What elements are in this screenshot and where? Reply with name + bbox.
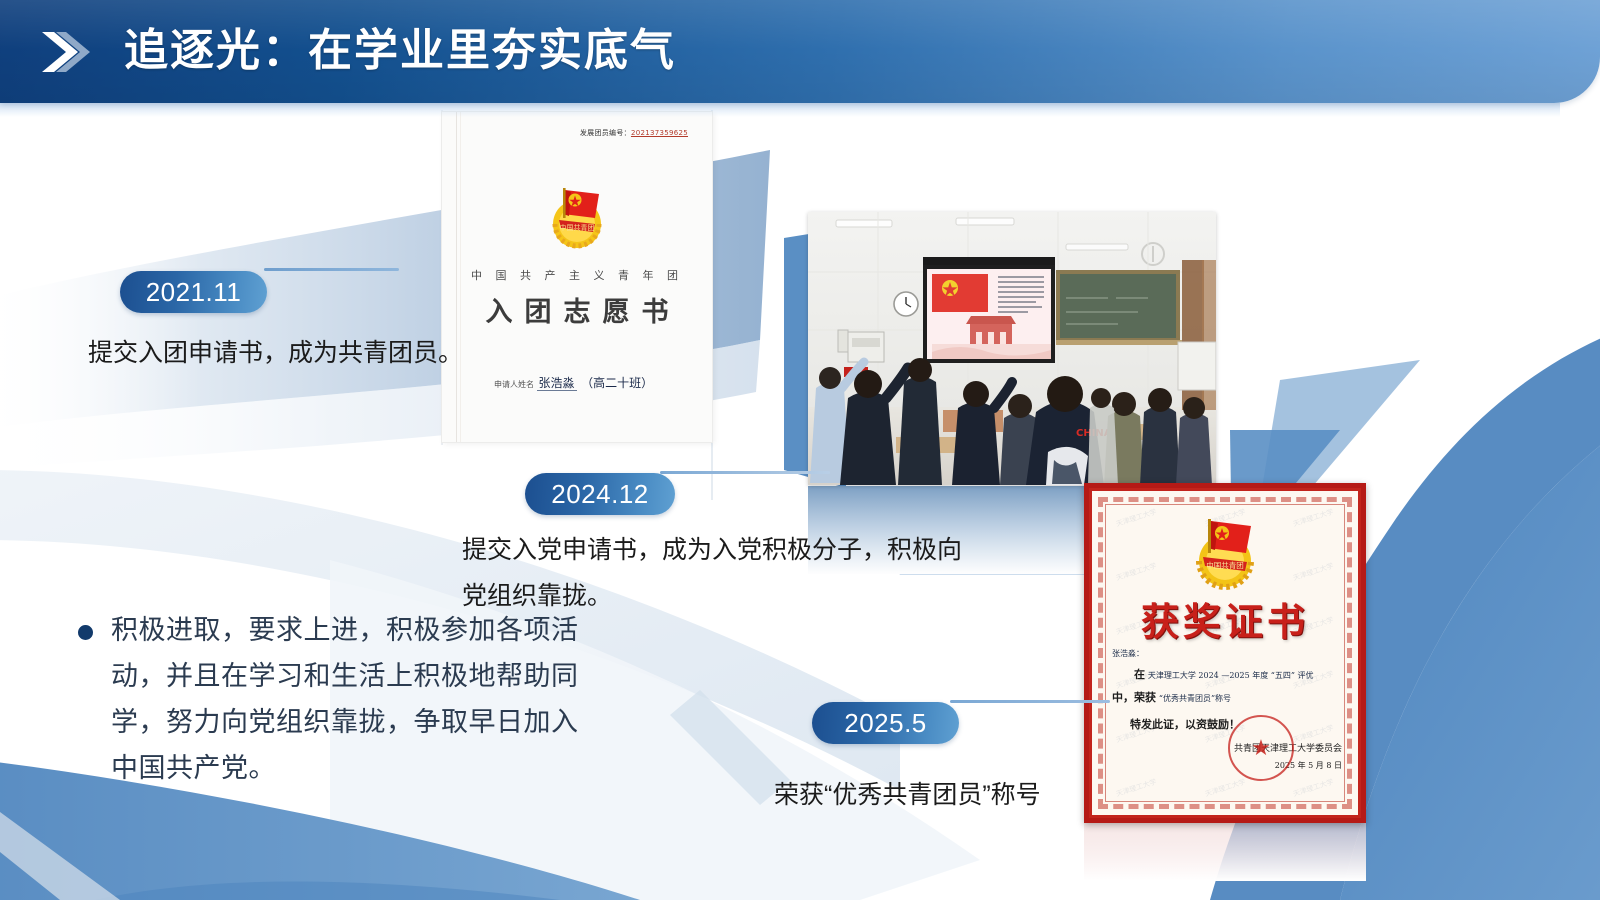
certificate-body: 张浩淼： 在 天津理工大学 2024 —2025 年度 “五四” 评优 中，荣获…	[1112, 643, 1340, 735]
presentation-slide: 追逐光：在学业里夯实底气 发展团员编号：202137359625 中国共青团 中…	[0, 0, 1600, 900]
doc-applicant-label: 申请人姓名	[494, 380, 534, 389]
timeline-date-2024-12[interactable]: 2024.12	[525, 473, 675, 515]
timeline-date-2021-11[interactable]: 2021.11	[120, 271, 267, 313]
youth-league-application-form-image: 发展团员编号：202137359625 中国共青团 中 国 共 产 主 义 青 …	[442, 112, 712, 442]
double-chevron-right-icon	[36, 28, 96, 76]
bullet-paragraph: 积极进取，要求上进，积极参加各项活动，并且在学习和生活上积极地帮助同学，努力向党…	[78, 608, 608, 792]
page-title: 追逐光：在学业里夯实底气	[124, 16, 676, 86]
connector-line-2	[660, 471, 830, 474]
doc-organization-line: 中 国 共 产 主 义 青 年 团	[442, 267, 712, 283]
svg-text:中国共青团: 中国共青团	[560, 223, 595, 232]
connector-line-1	[264, 268, 399, 271]
arc-right-outer	[1340, 430, 1600, 900]
certificate-recipient: 张浩淼：	[1112, 643, 1340, 664]
arc-bottom-left-inner	[95, 882, 560, 900]
timeline-caption-2: 提交入党申请书，成为入党积极分子，积极向 党组织靠拢。	[462, 527, 962, 619]
accent-diagonal-bl	[0, 812, 120, 900]
connector-line-3	[950, 700, 1110, 703]
accent-diagonal-mid	[670, 690, 790, 805]
official-seal-stamp: ★	[1228, 715, 1294, 781]
doc-applicant-row: 申请人姓名 张浩淼 （高二十班）	[494, 374, 655, 391]
timeline-caption-1: 提交入团申请书，成为共青团员。	[88, 330, 508, 376]
doc-title: 入团志愿书	[442, 290, 712, 329]
header-underglow	[0, 103, 1560, 117]
doc-header-label: 发展团员编号：	[580, 129, 631, 137]
doc-applicant-name: 张浩淼	[537, 376, 577, 391]
communist-youth-league-emblem: 中国共青团	[1179, 513, 1271, 591]
certificate-line-3: 特发此证，以资鼓励！	[1112, 714, 1340, 735]
bullet-paragraph-text: 积极进取，要求上进，积极参加各项活动，并且在学习和生活上积极地帮助同学，努力向党…	[111, 608, 581, 792]
certificate-title: 获奖证书	[1092, 591, 1358, 646]
svg-text:中国共青团: 中国共青团	[1206, 560, 1244, 570]
timeline-caption-3: 荣获“优秀共青团员”称号	[774, 772, 1194, 818]
timeline-date-2025-5[interactable]: 2025.5	[812, 702, 959, 744]
doc-header-number-row: 发展团员编号：202137359625	[580, 128, 688, 138]
communist-youth-league-emblem: 中国共青团	[541, 180, 613, 252]
bullet-dot-icon	[78, 625, 93, 640]
doc-applicant-class: （高二十班）	[579, 376, 655, 390]
doc-header-number: 202137359625	[631, 129, 688, 137]
classroom-oath-ceremony-photo: CHINA	[808, 212, 1216, 485]
certificate-line-1: 在 天津理工大学 2024 —2025 年度 “五四” 评优	[1112, 664, 1340, 687]
certificate-line-2: 中，荣获 “优秀共青团员”称号	[1112, 687, 1340, 710]
certificate-reflection	[1084, 823, 1366, 881]
